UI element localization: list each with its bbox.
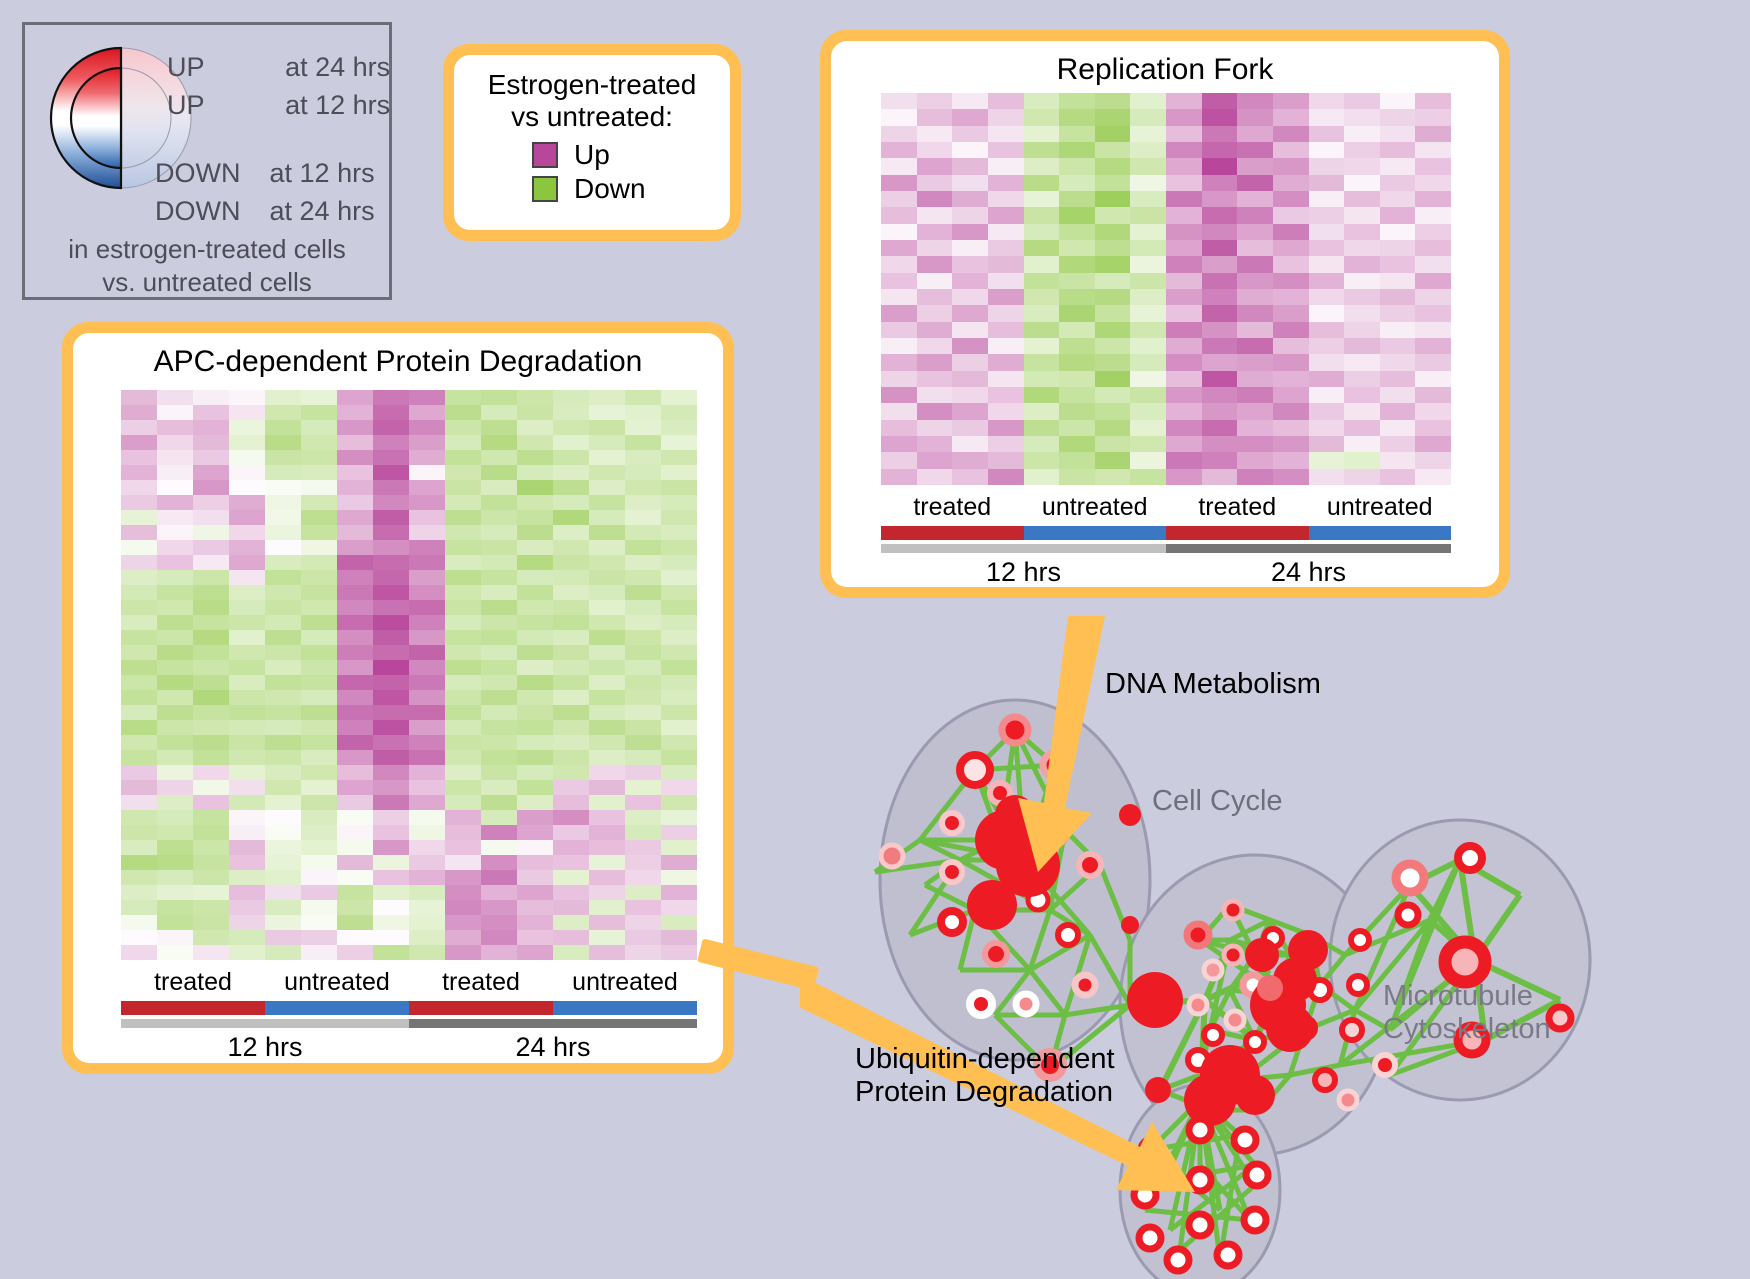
heatmap-cell xyxy=(917,273,953,289)
heatmap-cell xyxy=(409,525,445,540)
heatmap-cell xyxy=(301,840,337,855)
heatmap-cell xyxy=(1202,289,1238,305)
heatmap-cell xyxy=(661,855,697,870)
heatmap-cell xyxy=(373,690,409,705)
heatmap-cell xyxy=(1237,207,1273,223)
heatmap-cell xyxy=(445,390,481,405)
heatmap-cell xyxy=(265,645,301,660)
legend-label-up-24: UP xyxy=(167,52,204,82)
heatmap-cell xyxy=(301,660,337,675)
updown-title-line1: Estrogen-treated xyxy=(464,69,720,101)
heatmap-cell xyxy=(1380,305,1416,321)
heatmap-cell xyxy=(337,435,373,450)
heatmap-cell xyxy=(1237,224,1273,240)
heatmap-cell xyxy=(1095,142,1131,158)
time-group-color xyxy=(121,1019,409,1028)
heatmap-cell xyxy=(881,175,917,191)
heatmap-cell xyxy=(1202,207,1238,223)
heatmap-cell xyxy=(157,645,193,660)
heatmap-cell xyxy=(1166,305,1202,321)
heatmap-cell xyxy=(1344,158,1380,174)
heatmap-cell xyxy=(229,810,265,825)
heatmap-cell xyxy=(988,158,1024,174)
heatmap-cell xyxy=(193,885,229,900)
heatmap-cell xyxy=(1309,207,1345,223)
heatmap-cell xyxy=(445,615,481,630)
heatmap-cell xyxy=(337,885,373,900)
heatmap-cell xyxy=(121,540,157,555)
heatmap-cell xyxy=(1344,420,1380,436)
heatmap-cell xyxy=(265,915,301,930)
heatmap-cell xyxy=(952,207,988,223)
label-ubiquitin: Ubiquitin-dependent Protein Degradation xyxy=(855,1043,1115,1110)
heatmap-cell xyxy=(193,720,229,735)
heatmap-cell xyxy=(1024,158,1060,174)
heatmap-cell xyxy=(1024,305,1060,321)
heatmap-cell xyxy=(1237,273,1273,289)
heatmap-cell xyxy=(301,780,337,795)
heatmap-cell xyxy=(229,870,265,885)
heatmap-cell xyxy=(553,510,589,525)
heatmap-cell xyxy=(517,885,553,900)
heatmap-cell xyxy=(1024,142,1060,158)
heatmap-cell xyxy=(1237,420,1273,436)
heatmap-cell xyxy=(1415,371,1451,387)
heatmap-cell xyxy=(589,480,625,495)
heatmap-cell xyxy=(1237,387,1273,403)
replication-fork-inner: Replication Fork treateduntreatedtreated… xyxy=(831,41,1499,587)
heatmap-cell xyxy=(1344,126,1380,142)
heatmap-cell xyxy=(229,390,265,405)
heatmap-cell xyxy=(1166,273,1202,289)
heatmap-cell xyxy=(481,540,517,555)
heatmap-cell xyxy=(1237,338,1273,354)
heatmap-cell xyxy=(1309,158,1345,174)
heatmap-cell xyxy=(625,840,661,855)
heatmap-cell xyxy=(881,273,917,289)
heatmap-cell xyxy=(373,600,409,615)
heatmap-cell xyxy=(553,540,589,555)
heatmap-cell xyxy=(1095,256,1131,272)
heatmap-cell xyxy=(553,525,589,540)
legend-footer-line2: vs. untreated cells xyxy=(25,266,389,299)
heatmap-cell xyxy=(1166,420,1202,436)
heatmap-cell xyxy=(881,240,917,256)
heatmap-cell xyxy=(625,570,661,585)
heatmap-cell xyxy=(157,795,193,810)
heatmap-cell xyxy=(661,525,697,540)
time-group-label: 12 hrs xyxy=(121,1032,409,1066)
heatmap-cell xyxy=(121,945,157,960)
heatmap-cell xyxy=(409,630,445,645)
heatmap-cell xyxy=(409,690,445,705)
legend-row-down-24: DOWN at 24 hrs xyxy=(155,196,375,227)
heatmap-cell xyxy=(1273,207,1309,223)
heatmap-cell xyxy=(265,810,301,825)
heatmap-cell xyxy=(517,480,553,495)
heatmap-cell xyxy=(337,870,373,885)
heatmap-cell xyxy=(881,436,917,452)
heatmap-cell xyxy=(1202,273,1238,289)
heatmap-cell xyxy=(553,480,589,495)
heatmap-cell xyxy=(481,780,517,795)
heatmap-cell xyxy=(301,555,337,570)
heatmap-cell xyxy=(481,480,517,495)
heatmap-cell xyxy=(229,540,265,555)
heatmap-cell xyxy=(517,900,553,915)
heatmap-cell xyxy=(1024,273,1060,289)
heatmap-cell xyxy=(445,495,481,510)
heatmap-cell xyxy=(1415,126,1451,142)
legend-time-down-24: at 24 hrs xyxy=(270,196,375,226)
heatmap-cell xyxy=(553,555,589,570)
heatmap-cell xyxy=(661,840,697,855)
heatmap-cell xyxy=(1095,436,1131,452)
heatmap-cell xyxy=(589,630,625,645)
heatmap-cell xyxy=(1380,93,1416,109)
heatmap-cell xyxy=(1202,93,1238,109)
heatmap-cell xyxy=(1273,273,1309,289)
heatmap-cell xyxy=(265,390,301,405)
heatmap-cell xyxy=(1130,240,1166,256)
heatmap-cell xyxy=(1095,469,1131,485)
heatmap-cell xyxy=(265,630,301,645)
heatmap-cell xyxy=(121,765,157,780)
heatmap-cell xyxy=(1024,93,1060,109)
heatmap-cell xyxy=(589,870,625,885)
heatmap-cell xyxy=(1059,420,1095,436)
heatmap-cell xyxy=(625,930,661,945)
heatmap-cell xyxy=(265,660,301,675)
heatmap-cell xyxy=(988,469,1024,485)
heatmap-cell xyxy=(661,750,697,765)
heatmap-cell xyxy=(265,465,301,480)
heatmap-cell xyxy=(589,750,625,765)
heatmap-cell xyxy=(193,945,229,960)
heatmap-cell xyxy=(193,615,229,630)
heatmap-cell xyxy=(1273,403,1309,419)
heatmap-cell xyxy=(193,660,229,675)
heatmap-cell xyxy=(157,690,193,705)
heatmap-cell xyxy=(121,435,157,450)
heatmap-cell xyxy=(157,855,193,870)
heatmap-cell xyxy=(952,191,988,207)
heatmap-cell xyxy=(1344,191,1380,207)
heatmap-cell xyxy=(1130,224,1166,240)
heatmap-cell xyxy=(409,495,445,510)
heatmap-cell xyxy=(481,855,517,870)
heatmap-cell xyxy=(373,900,409,915)
heatmap-cell xyxy=(157,705,193,720)
heatmap-cell xyxy=(445,735,481,750)
heatmap-cell xyxy=(589,945,625,960)
heatmap-cell xyxy=(1130,175,1166,191)
heatmap-cell xyxy=(1273,158,1309,174)
heatmap-cell xyxy=(301,390,337,405)
heatmap-cell xyxy=(589,930,625,945)
heatmap-cell xyxy=(661,645,697,660)
heatmap-cell xyxy=(988,338,1024,354)
heatmap-cell xyxy=(1415,420,1451,436)
heatmap-cell xyxy=(1344,436,1380,452)
heatmap-cell xyxy=(625,405,661,420)
heatmap-cell xyxy=(1273,354,1309,370)
heatmap-cell xyxy=(1059,436,1095,452)
heatmap-cell xyxy=(409,675,445,690)
heatmap-cell xyxy=(625,495,661,510)
heatmap-cell xyxy=(481,585,517,600)
label-ubiquitin-line2: Protein Degradation xyxy=(855,1076,1115,1109)
heatmap-cell xyxy=(517,465,553,480)
heatmap-cell xyxy=(1344,371,1380,387)
heatmap-cell xyxy=(1380,403,1416,419)
heatmap-cell xyxy=(517,525,553,540)
heatmap-cell xyxy=(661,900,697,915)
heatmap-cell xyxy=(1059,256,1095,272)
heatmap-cell xyxy=(373,825,409,840)
heatmap-cell xyxy=(193,675,229,690)
heatmap-cell xyxy=(1130,436,1166,452)
heatmap-cell xyxy=(121,555,157,570)
heatmap-cell xyxy=(1415,142,1451,158)
heatmap-cell xyxy=(481,465,517,480)
heatmap-cell xyxy=(1202,452,1238,468)
heatmap-cell xyxy=(265,675,301,690)
heatmap-cell xyxy=(481,840,517,855)
heatmap-cell xyxy=(121,840,157,855)
heatmap-cell xyxy=(481,795,517,810)
heatmap-cell xyxy=(988,273,1024,289)
heatmap-cell xyxy=(445,645,481,660)
heatmap-cell xyxy=(1237,371,1273,387)
heatmap-cell xyxy=(517,810,553,825)
heatmap-cell xyxy=(952,354,988,370)
heatmap-cell xyxy=(1024,338,1060,354)
heatmap-cell xyxy=(409,705,445,720)
heatmap-cell xyxy=(952,256,988,272)
sample-group-color xyxy=(1309,526,1452,540)
heatmap-cell xyxy=(589,615,625,630)
heatmap-cell xyxy=(589,465,625,480)
heatmap-cell xyxy=(445,465,481,480)
heatmap-cell xyxy=(952,109,988,125)
heatmap-cell xyxy=(1095,109,1131,125)
heatmap-cell xyxy=(881,420,917,436)
heatmap-cell xyxy=(881,191,917,207)
heatmap-cell xyxy=(553,660,589,675)
heatmap-cell xyxy=(409,585,445,600)
heatmap-cell xyxy=(373,780,409,795)
heatmap-cell xyxy=(625,450,661,465)
heatmap-cell xyxy=(1130,338,1166,354)
heatmap-cell xyxy=(517,450,553,465)
heatmap-cell xyxy=(661,780,697,795)
heatmap-cell xyxy=(337,930,373,945)
heatmap-cell xyxy=(881,109,917,125)
heatmap-cell xyxy=(229,765,265,780)
heatmap-cell xyxy=(157,450,193,465)
heatmap-cell xyxy=(553,450,589,465)
heatmap-cell xyxy=(517,390,553,405)
heatmap-cell xyxy=(373,915,409,930)
heatmap-cell xyxy=(988,126,1024,142)
heatmap-cell xyxy=(373,555,409,570)
sample-group-label: treated xyxy=(1166,493,1309,525)
heatmap-cell xyxy=(229,630,265,645)
heatmap-cell xyxy=(445,750,481,765)
heatmap-cell xyxy=(445,945,481,960)
heatmap-cell xyxy=(373,855,409,870)
heatmap-cell xyxy=(1237,305,1273,321)
heatmap-cell xyxy=(988,403,1024,419)
heatmap-cell xyxy=(121,720,157,735)
heatmap-cell xyxy=(1309,452,1345,468)
heatmap-cell xyxy=(1273,338,1309,354)
heatmap-cell xyxy=(1344,93,1380,109)
heatmap-cell xyxy=(481,870,517,885)
heatmap-cell xyxy=(445,660,481,675)
heatmap-cell xyxy=(1130,322,1166,338)
heatmap-cell xyxy=(1309,436,1345,452)
heatmap-cell xyxy=(1202,142,1238,158)
heatmap-cell xyxy=(409,750,445,765)
heatmap-cell xyxy=(409,900,445,915)
heatmap-cell xyxy=(625,540,661,555)
heatmap-cell xyxy=(445,570,481,585)
heatmap-cell xyxy=(229,675,265,690)
heatmap-cell xyxy=(337,510,373,525)
heatmap-cell xyxy=(1166,256,1202,272)
heatmap-cell xyxy=(445,900,481,915)
heatmap-cell xyxy=(1059,387,1095,403)
heatmap-cell xyxy=(409,555,445,570)
legend-time-up-12: at 12 hrs xyxy=(285,90,390,120)
heatmap-cell xyxy=(1380,354,1416,370)
heatmap-cell xyxy=(881,452,917,468)
heatmap-cell xyxy=(373,420,409,435)
heatmap-cell xyxy=(952,93,988,109)
heatmap-cell xyxy=(1309,175,1345,191)
heatmap-cell xyxy=(373,705,409,720)
heatmap-cell xyxy=(121,825,157,840)
heatmap-cell xyxy=(1059,469,1095,485)
heatmap-cell xyxy=(193,735,229,750)
heatmap-cell xyxy=(553,570,589,585)
replication-sample-labels: treateduntreatedtreateduntreated xyxy=(881,493,1451,525)
heatmap-cell xyxy=(917,224,953,240)
heatmap-cell xyxy=(445,585,481,600)
heatmap-cell xyxy=(988,452,1024,468)
heatmap-cell xyxy=(1344,142,1380,158)
heatmap-cell xyxy=(517,795,553,810)
heatmap-cell xyxy=(301,510,337,525)
heatmap-cell xyxy=(481,765,517,780)
time-group-color xyxy=(409,1019,697,1028)
heatmap-cell xyxy=(193,855,229,870)
heatmap-cell xyxy=(1166,452,1202,468)
heatmap-cell xyxy=(229,570,265,585)
legend-label-down-24: DOWN xyxy=(155,196,240,226)
heatmap-cell xyxy=(121,660,157,675)
heatmap-cell xyxy=(301,900,337,915)
legend-row-up-24: UP at 24 hrs xyxy=(167,52,390,83)
sample-group-color xyxy=(1166,526,1309,540)
heatmap-cell xyxy=(1380,175,1416,191)
heatmap-cell xyxy=(881,371,917,387)
heatmap-cell xyxy=(553,645,589,660)
heatmap-cell xyxy=(229,600,265,615)
heatmap-cell xyxy=(157,480,193,495)
heatmap-cell xyxy=(193,630,229,645)
heatmap-cell xyxy=(445,510,481,525)
heatmap-cell xyxy=(193,840,229,855)
heatmap-cell xyxy=(229,645,265,660)
heatmap-cell xyxy=(661,585,697,600)
heatmap-cell xyxy=(481,690,517,705)
sample-group-label: treated xyxy=(881,493,1024,525)
heatmap-cell xyxy=(988,207,1024,223)
heatmap-cell xyxy=(1202,158,1238,174)
heatmap-cell xyxy=(193,480,229,495)
heatmap-cell xyxy=(917,191,953,207)
heatmap-cell xyxy=(1130,305,1166,321)
heatmap-cell xyxy=(445,480,481,495)
heatmap-cell xyxy=(229,945,265,960)
legend-item-up-label: Up xyxy=(574,139,610,171)
heatmap-cell xyxy=(952,322,988,338)
replication-fork-heatmap xyxy=(881,93,1451,485)
heatmap-cell xyxy=(157,600,193,615)
heatmap-cell xyxy=(1415,452,1451,468)
heatmap-cell xyxy=(517,705,553,720)
heatmap-cell xyxy=(193,525,229,540)
replication-time-labels: 12 hrs24 hrs xyxy=(881,557,1451,591)
heatmap-cell xyxy=(1095,371,1131,387)
heatmap-cell xyxy=(952,338,988,354)
heatmap-cell xyxy=(881,354,917,370)
heatmap-cell xyxy=(1415,109,1451,125)
heatmap-cell xyxy=(1130,158,1166,174)
heatmap-cell xyxy=(553,675,589,690)
heatmap-cell xyxy=(121,585,157,600)
sample-group-color xyxy=(553,1001,697,1015)
heatmap-cell xyxy=(445,795,481,810)
heatmap-cell xyxy=(1095,207,1131,223)
up-color-swatch xyxy=(532,142,558,168)
heatmap-cell xyxy=(1130,289,1166,305)
heatmap-cell xyxy=(481,600,517,615)
heatmap-cell xyxy=(625,945,661,960)
heatmap-cell xyxy=(1024,322,1060,338)
heatmap-cell xyxy=(881,224,917,240)
heatmap-cell xyxy=(229,720,265,735)
heatmap-cell xyxy=(988,420,1024,436)
heatmap-cell xyxy=(1095,322,1131,338)
heatmap-cell xyxy=(1130,371,1166,387)
heatmap-cell xyxy=(1202,240,1238,256)
heatmap-cell xyxy=(553,495,589,510)
heatmap-cell xyxy=(589,495,625,510)
heatmap-cell xyxy=(157,870,193,885)
heatmap-cell xyxy=(1415,338,1451,354)
heatmap-cell xyxy=(157,660,193,675)
heatmap-cell xyxy=(1309,338,1345,354)
heatmap-cell xyxy=(373,585,409,600)
heatmap-cell xyxy=(625,870,661,885)
heatmap-cell xyxy=(1059,403,1095,419)
heatmap-cell xyxy=(988,436,1024,452)
heatmap-cell xyxy=(301,915,337,930)
